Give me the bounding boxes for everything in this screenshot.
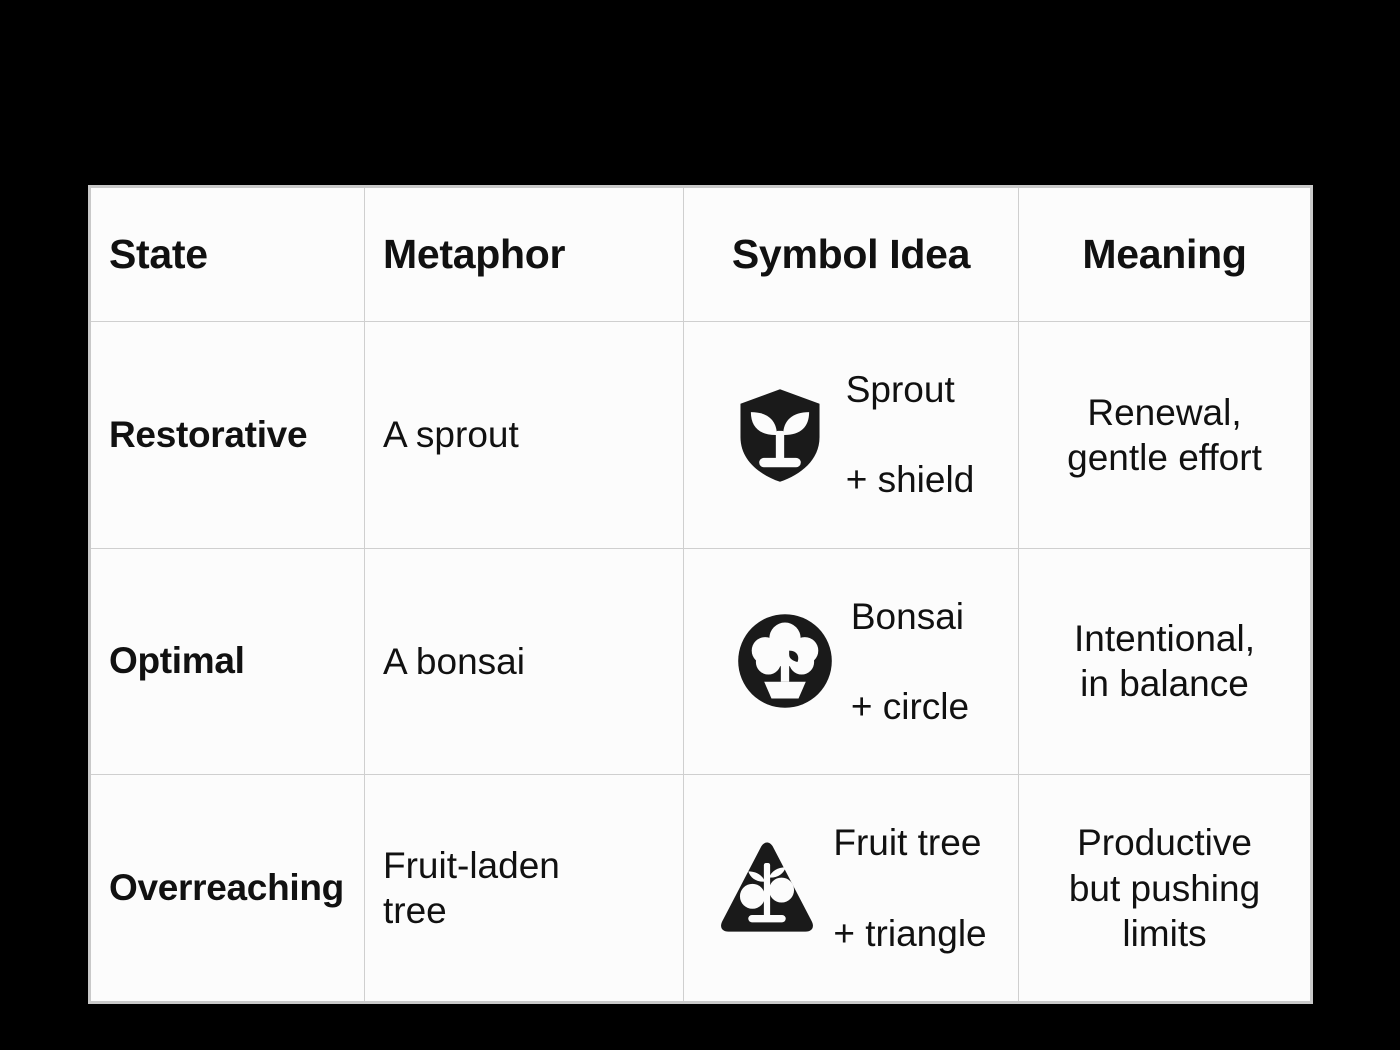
table-header-row: State Metaphor Symbol Idea Meaning <box>90 187 1312 322</box>
meaning-line-1: Productive <box>1037 820 1292 865</box>
symbol-label-restorative: Sprout + shield <box>846 322 975 548</box>
cell-symbol-optimal: Bonsai + circle <box>684 548 1019 775</box>
cell-state-optimal: Optimal <box>90 548 365 775</box>
table-row-optimal: Optimal A bonsai <box>90 548 1312 775</box>
cell-metaphor-overreaching: Fruit-laden tree <box>365 775 684 1003</box>
meaning-line-3: limits <box>1037 911 1292 956</box>
symbol-label-line-1: Bonsai <box>851 594 969 639</box>
symbol-label-line-1: Fruit tree <box>833 820 986 865</box>
symbol-system-table: State Metaphor Symbol Idea Meaning Resto… <box>88 185 1313 1004</box>
cell-metaphor-optimal: A bonsai <box>365 548 684 775</box>
meaning-line-2: in balance <box>1037 661 1292 706</box>
metaphor-line-2: tree <box>383 888 665 933</box>
symbol-label-line-2: + triangle <box>833 911 986 956</box>
symbol-label-optimal: Bonsai + circle <box>851 549 969 775</box>
meaning-line-1: Intentional, <box>1037 616 1292 661</box>
cell-meaning-restorative: Renewal, gentle effort <box>1019 322 1312 549</box>
symbol-label-line-1: Sprout <box>846 367 975 412</box>
cell-state-overreaching: Overreaching <box>90 775 365 1003</box>
meaning-line-2: but pushing <box>1037 866 1292 911</box>
cell-symbol-overreaching: Fruit tree + triangle <box>684 775 1019 1003</box>
fruit-tree-triangle-icon <box>715 836 819 940</box>
sprout-shield-icon <box>728 383 832 487</box>
cell-meaning-overreaching: Productive but pushing limits <box>1019 775 1312 1003</box>
cell-symbol-restorative: Sprout + shield <box>684 322 1019 549</box>
meaning-line-1: Renewal, <box>1037 390 1292 435</box>
column-header-metaphor: Metaphor <box>365 187 684 322</box>
column-header-meaning: Meaning <box>1019 187 1312 322</box>
cell-meaning-optimal: Intentional, in balance <box>1019 548 1312 775</box>
column-header-state: State <box>90 187 365 322</box>
table-row-overreaching: Overreaching Fruit-laden tree <box>90 775 1312 1003</box>
symbol-label-line-2: + circle <box>851 684 969 729</box>
table-row-restorative: Restorative A sprout <box>90 322 1312 549</box>
bonsai-circle-icon <box>733 609 837 713</box>
cell-state-restorative: Restorative <box>90 322 365 549</box>
page-canvas: State Metaphor Symbol Idea Meaning Resto… <box>0 0 1400 1050</box>
symbol-label-line-2: + shield <box>846 457 975 502</box>
column-header-symbol-idea: Symbol Idea <box>684 187 1019 322</box>
meaning-line-2: gentle effort <box>1037 435 1292 480</box>
cell-metaphor-restorative: A sprout <box>365 322 684 549</box>
symbol-label-overreaching: Fruit tree + triangle <box>833 775 986 1001</box>
metaphor-line-1: Fruit-laden <box>383 843 665 888</box>
